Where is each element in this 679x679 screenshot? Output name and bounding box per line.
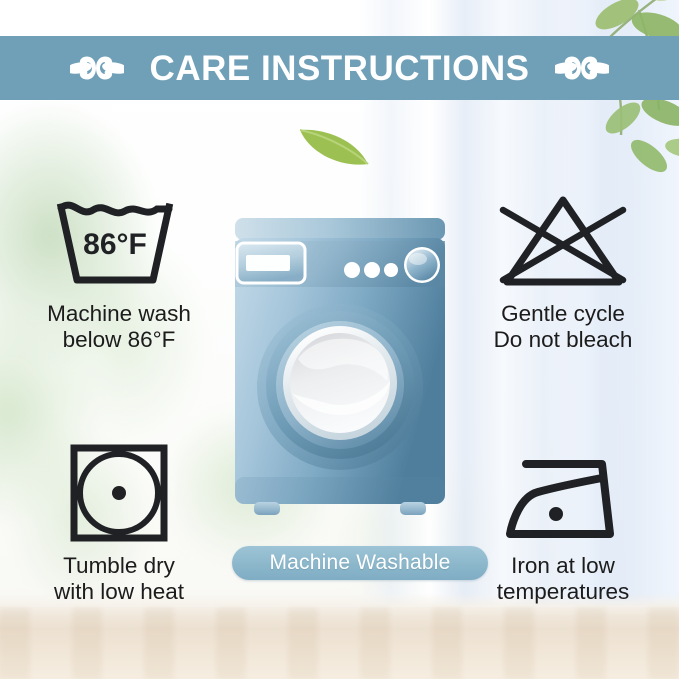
badge-label: Machine Washable [269,551,450,575]
wash-tub-icon: 86°F [8,188,230,292]
washing-machine-illustration [232,215,448,525]
page-title: CARE INSTRUCTIONS [150,51,530,86]
iron-icon [452,440,674,544]
machine-foot [254,502,280,515]
care-caption-line2: Do not bleach [452,327,674,353]
control-button [384,263,398,277]
crossed-triangle-icon [452,188,674,292]
machine-washable-badge: Machine Washable [232,546,488,580]
control-button [344,262,360,278]
care-caption-line2: below 86°F [8,327,230,353]
green-leaf-icon [296,120,372,170]
care-item-do-not-bleach: Gentle cycle Do not bleach [452,188,674,354]
plant-branch-decoration [489,0,679,200]
care-caption-line1: Gentle cycle [452,301,674,327]
wash-temperature-label: 86°F [83,228,147,261]
care-item-tumble-dry: Tumble dry with low heat [8,440,230,606]
header-banner: CARE INSTRUCTIONS [0,36,679,100]
machine-foot [400,502,426,515]
control-button [364,262,380,278]
fleur-de-lis-icon [70,47,124,89]
care-item-iron: Iron at low temperatures [452,440,674,606]
care-caption-line1: Machine wash [8,301,230,327]
wood-surface [0,607,679,679]
care-caption-line2: temperatures [452,579,674,605]
care-item-machine-wash: 86°F Machine wash below 86°F [8,188,230,354]
care-caption-line1: Tumble dry [8,553,230,579]
tumble-dry-icon [8,440,230,544]
care-caption-line2: with low heat [8,579,230,605]
fleur-de-lis-icon [555,47,609,89]
care-instructions-card: CARE INSTRUCTIONS 86°F Machine wash belo… [0,0,679,679]
